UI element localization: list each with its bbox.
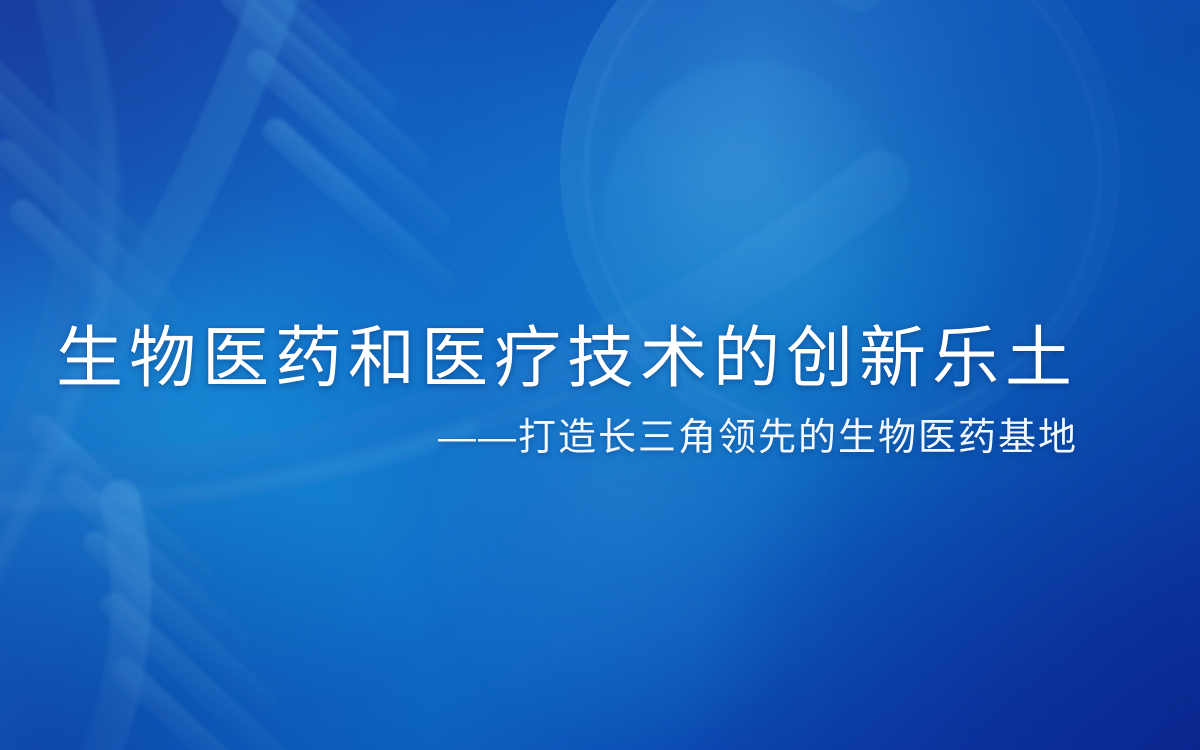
presentation-title-slide: 生物医药和医疗技术的创新乐土 ——打造长三角领先的生物医药基地 — [0, 0, 1200, 750]
title-block: 生物医药和医疗技术的创新乐土 ——打造长三角领先的生物医药基地 — [0, 318, 1078, 462]
page-subtitle: ——打造长三角领先的生物医药基地 — [0, 414, 1078, 462]
page-title: 生物医药和医疗技术的创新乐土 — [0, 318, 1078, 400]
